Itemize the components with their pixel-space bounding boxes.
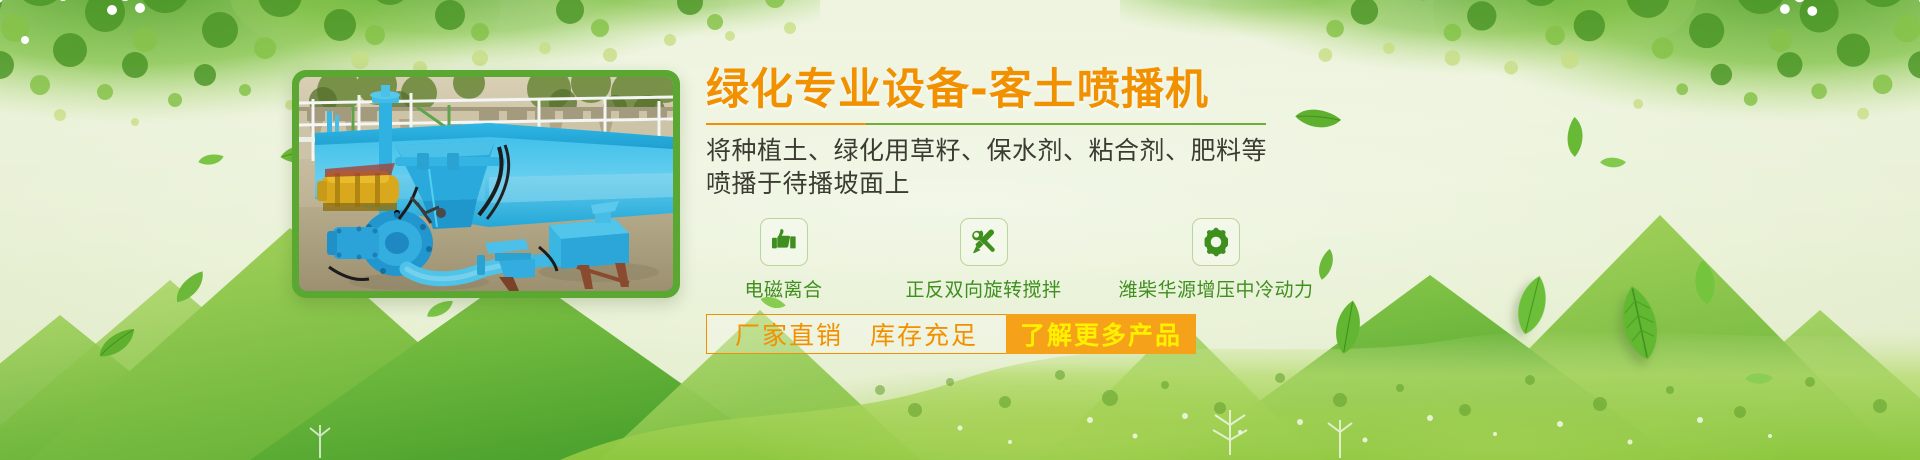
cta-slogan: 厂家直销 库存充足 [706, 314, 1006, 354]
banner-subtitle: 将种植土、绿化用草籽、保水剂、粘合剂、肥料等 喷播于待播坡面上 [706, 134, 1326, 200]
promo-banner: 绿化专业设备-客土喷播机 将种植土、绿化用草籽、保水剂、粘合剂、肥料等 喷播于待… [0, 0, 1920, 460]
feature-label: 潍柴华源增压中冷动力 [1106, 275, 1326, 302]
feature-label: 电磁离合 [706, 275, 861, 302]
feature-item-turbo-power[interactable]: 潍柴华源增压中冷动力 [1106, 218, 1326, 302]
title-divider [706, 123, 1266, 125]
thumbs-up-icon [769, 227, 799, 257]
learn-more-button[interactable]: 了解更多产品 [1006, 314, 1196, 354]
subtitle-line-2: 喷播于待播坡面上 [706, 167, 1326, 200]
gear-icon [1201, 227, 1231, 257]
product-photo[interactable] [299, 77, 673, 291]
feature-icon-box [760, 218, 808, 266]
feature-item-electromagnetic-clutch[interactable]: 电磁离合 [706, 218, 861, 302]
product-photo-frame[interactable] [292, 70, 680, 298]
cta-bar: 厂家直销 库存充足 了解更多产品 [706, 314, 1196, 354]
hydroseeder-machine-illustration [299, 77, 673, 291]
feature-icon-box [960, 218, 1008, 266]
feature-item-bidirectional-mixing[interactable]: 正反双向旋转搅拌 [861, 218, 1106, 302]
subtitle-line-1: 将种植土、绿化用草籽、保水剂、粘合剂、肥料等 [706, 134, 1326, 167]
feature-label: 正反双向旋转搅拌 [861, 275, 1106, 302]
page-title: 绿化专业设备-客土喷播机 [706, 66, 1326, 114]
feature-icon-box [1192, 218, 1240, 266]
banner-content: 绿化专业设备-客土喷播机 将种植土、绿化用草籽、保水剂、粘合剂、肥料等 喷播于待… [706, 66, 1326, 354]
feature-list: 电磁离合 正反双向旋转搅拌 [706, 218, 1326, 302]
tools-icon [969, 227, 999, 257]
